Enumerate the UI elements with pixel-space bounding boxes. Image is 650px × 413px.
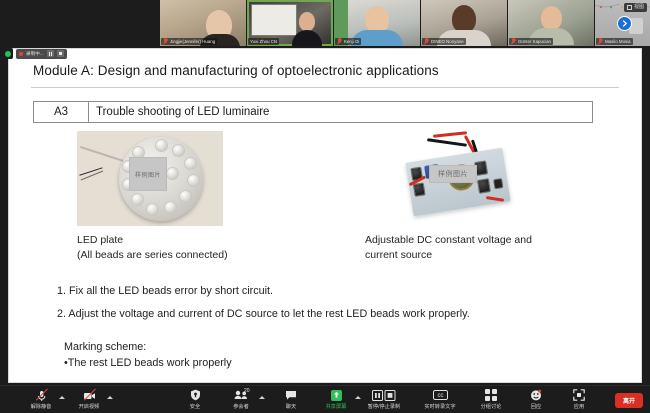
zoom-meeting-window: Jingjie(Jennifer) Huang Yuxi Zhou CN Ken… [0,0,650,413]
tile-name-badge-2: Kenji Oi [335,38,361,45]
toolbar-button-apps[interactable]: 应用 [556,389,602,410]
closed-caption-icon: cc [433,389,448,401]
chevron-up-icon[interactable] [59,396,65,399]
capacitor [413,182,426,197]
toolbar-label: 应用 [574,403,584,410]
breakout-rooms-icon [485,389,497,401]
meeting-toolbar: 解除静音 开启视频 安全 20 参会者 [0,385,650,413]
participant-name: Yuxi Zhou CN [250,38,277,45]
led-plate-photo: 样例图片 [77,131,223,226]
toolbar-button-reactions[interactable]: 回应 [513,389,559,410]
share-screen-icon [331,389,342,401]
recording-active-dot [5,51,11,57]
caption-line-1: Adjustable DC constant voltage and [365,233,615,248]
chevron-up-icon[interactable] [259,396,265,399]
task-steps-list: 1. Fix all the LED beads error by short … [57,285,611,331]
svg-text:cc: cc [437,393,443,399]
toolbar-label: 聊天 [286,403,296,410]
caption-line-1: LED plate [77,233,317,248]
marking-scheme-heading: Marking scheme: [64,339,232,355]
reactions-icon [530,389,542,401]
toolbar-button-start-video[interactable]: 开启视频 [66,389,112,410]
toolbar-button-participants[interactable]: 20 参会者 [218,389,264,410]
view-button-label: 视图 [634,3,644,12]
tile-name-badge-5: Masilo Mosia [596,38,633,45]
photo-red-wire [433,131,467,137]
participant-name: Masilo Mosia [605,38,631,45]
view-mode-button[interactable]: 视图 [624,3,647,12]
tile-name-badge-4: Günter Kapucian [509,38,553,45]
toolbar-button-pause-stop-recording[interactable]: 暂停/停止录制 [355,389,413,410]
video-tile-4[interactable]: Günter Kapucian [508,0,594,46]
photo-wire [80,146,124,162]
toolbar-button-security[interactable]: 安全 [172,389,218,410]
mic-muted-icon [337,38,342,45]
led-plate-caption: LED plate (All beads are series connecte… [77,233,317,263]
apps-icon [573,389,585,401]
microphone-muted-icon [35,389,48,401]
record-dot-icon [19,52,23,56]
avatar [452,5,476,33]
toolbar-label: 暂停/停止录制 [368,403,401,410]
video-tile-2[interactable]: Kenji Oi [334,0,420,46]
tile-name-badge-3: DINEO Nonyane [422,38,466,45]
video-tile-0[interactable]: Jingjie(Jennifer) Huang [160,0,246,46]
toolbar-button-chat[interactable]: 聊天 [268,389,314,410]
mic-muted-icon [598,38,603,45]
recording-status-icon [2,48,13,59]
avatar [365,6,389,33]
photo-black-wire [427,138,467,146]
recording-control-bar[interactable]: 录制中... [16,49,67,59]
task-code: A3 [34,102,89,122]
task-step: 2. Adjust the voltage and current of DC … [57,308,611,320]
marking-scheme-block: Marking scheme: •The rest LED beads work… [64,339,232,371]
dc-source-photo: 样例图片 [397,127,522,225]
shield-icon [190,389,201,401]
filmstrip-left-spacer [0,0,160,46]
toolbar-label: 实时转录文字 [424,403,455,410]
tile-name-badge-0: Jingjie(Jennifer) Huang [161,38,217,45]
toolbar-button-breakout-rooms[interactable]: 分组讨论 [468,389,514,410]
marking-scheme-item: •The rest LED beads work properly [64,355,232,371]
video-muted-icon [83,389,96,401]
mic-muted-icon [511,38,516,45]
participant-name: Kenji Oi [344,38,359,45]
capacitor [477,178,491,194]
toolbar-label: 分组讨论 [481,403,502,410]
shared-screen-stage: 录制中... Module A: Design and manufacturin… [0,46,650,385]
sample-image-watermark: 样例图片 [429,165,477,183]
pause-stop-record-icon [372,389,396,401]
stop-recording-button[interactable] [57,50,64,57]
avatar [299,12,315,31]
toolbar-label: 共享屏幕 [326,403,347,410]
toolbar-button-live-transcript[interactable]: cc 实时转录文字 [412,389,468,410]
participant-count-badge: 20 [244,388,250,394]
caption-line-2: (All beads are series connected) [77,248,317,263]
toolbar-label: 开启视频 [79,403,100,410]
chevron-right-icon [622,20,628,27]
toolbar-label: 回应 [531,403,541,410]
pause-recording-button[interactable] [47,50,54,57]
dc-source-caption: Adjustable DC constant voltage and curre… [365,233,615,263]
mic-muted-icon [163,38,168,45]
view-grid-icon [627,5,632,10]
participant-name: Günter Kapucian [518,38,551,45]
presentation-slide: Module A: Design and manufacturing of op… [8,48,642,383]
video-tile-1[interactable]: Yuxi Zhou CN [247,0,333,46]
participant-filmstrip: Jingjie(Jennifer) Huang Yuxi Zhou CN Ken… [0,0,650,46]
toolbar-label: 解除静音 [31,403,52,410]
mic-muted-icon [424,38,429,45]
title-divider [31,87,619,88]
chevron-up-icon[interactable] [107,396,113,399]
tile-name-badge-1: Yuxi Zhou CN [248,38,279,45]
recording-status-label: 录制中... [26,50,44,58]
mosfet [493,178,503,189]
participant-name: Jingjie(Jennifer) Huang [170,38,215,45]
whiteboard-shape [251,4,297,36]
avatar [541,6,562,30]
toolbar-label: 安全 [190,403,200,410]
recording-indicator: 录制中... [2,48,67,59]
slide-title: Module A: Design and manufacturing of op… [33,63,617,78]
task-description: Trouble shooting of LED luminaire [89,102,592,122]
task-code-table: A3 Trouble shooting of LED luminaire [33,101,593,123]
task-step: 1. Fix all the LED beads error by short … [57,285,611,297]
toolbar-button-share-screen[interactable]: 共享屏幕 [313,389,359,410]
toolbar-button-unmute[interactable]: 解除静音 [18,389,64,410]
video-tile-3[interactable]: DINEO Nonyane [421,0,507,46]
chat-bubble-icon [285,389,297,401]
filmstrip-next-page-button[interactable] [617,16,632,31]
caption-line-2: current source [365,248,615,263]
sample-image-watermark: 样例图片 [129,157,167,191]
toolbar-label: 参会者 [233,403,249,410]
leave-meeting-button[interactable]: 离开 [615,393,643,408]
participant-name: DINEO Nonyane [431,38,464,45]
pcb-red-lead-2 [486,196,504,201]
